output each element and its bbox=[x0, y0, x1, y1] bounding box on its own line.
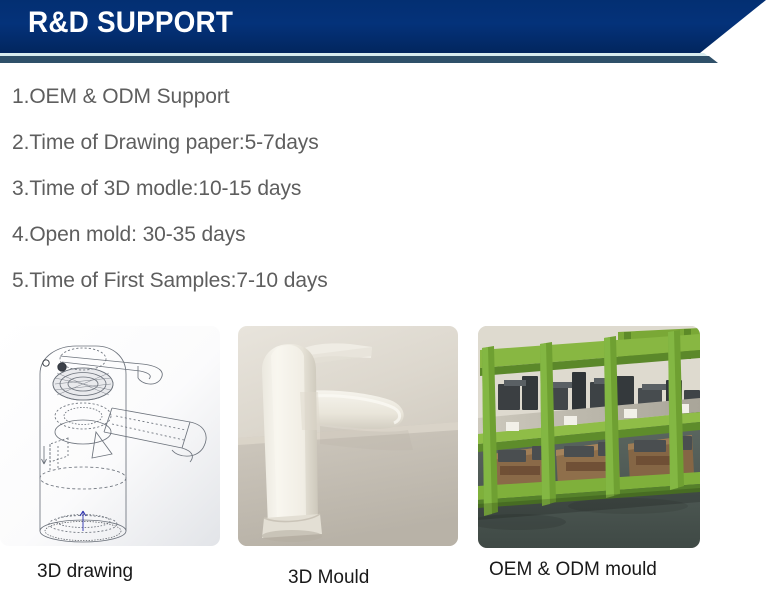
photo-caption: OEM & ODM mould bbox=[489, 559, 657, 581]
rd-support-spec-list: 1.OEM & ODM Support 2.Time of Drawing pa… bbox=[0, 74, 560, 304]
photo-caption: 3D drawing bbox=[37, 561, 133, 583]
cad-wireframe-faucet-image bbox=[0, 326, 220, 546]
list-item: 3.Time of 3D modle:10-15 days bbox=[0, 166, 560, 212]
green-rack-mould-storage-image bbox=[478, 326, 700, 548]
list-item: 1.OEM & ODM Support bbox=[0, 74, 560, 120]
photo-caption: 3D Mould bbox=[288, 567, 369, 589]
page-header-banner: R&D SUPPORT bbox=[0, 0, 766, 64]
list-item: 4.Open mold: 30-35 days bbox=[0, 212, 560, 258]
white-resin-faucet-prototype-image bbox=[238, 326, 458, 546]
list-item: 2.Time of Drawing paper:5-7days bbox=[0, 120, 560, 166]
gallery-photo-strip bbox=[0, 326, 766, 548]
list-item: 5.Time of First Samples:7-10 days bbox=[0, 258, 560, 304]
banner-underbar-divider bbox=[0, 56, 766, 63]
page-title: R&D SUPPORT bbox=[28, 6, 233, 40]
banner-hairline-divider bbox=[0, 53, 766, 56]
